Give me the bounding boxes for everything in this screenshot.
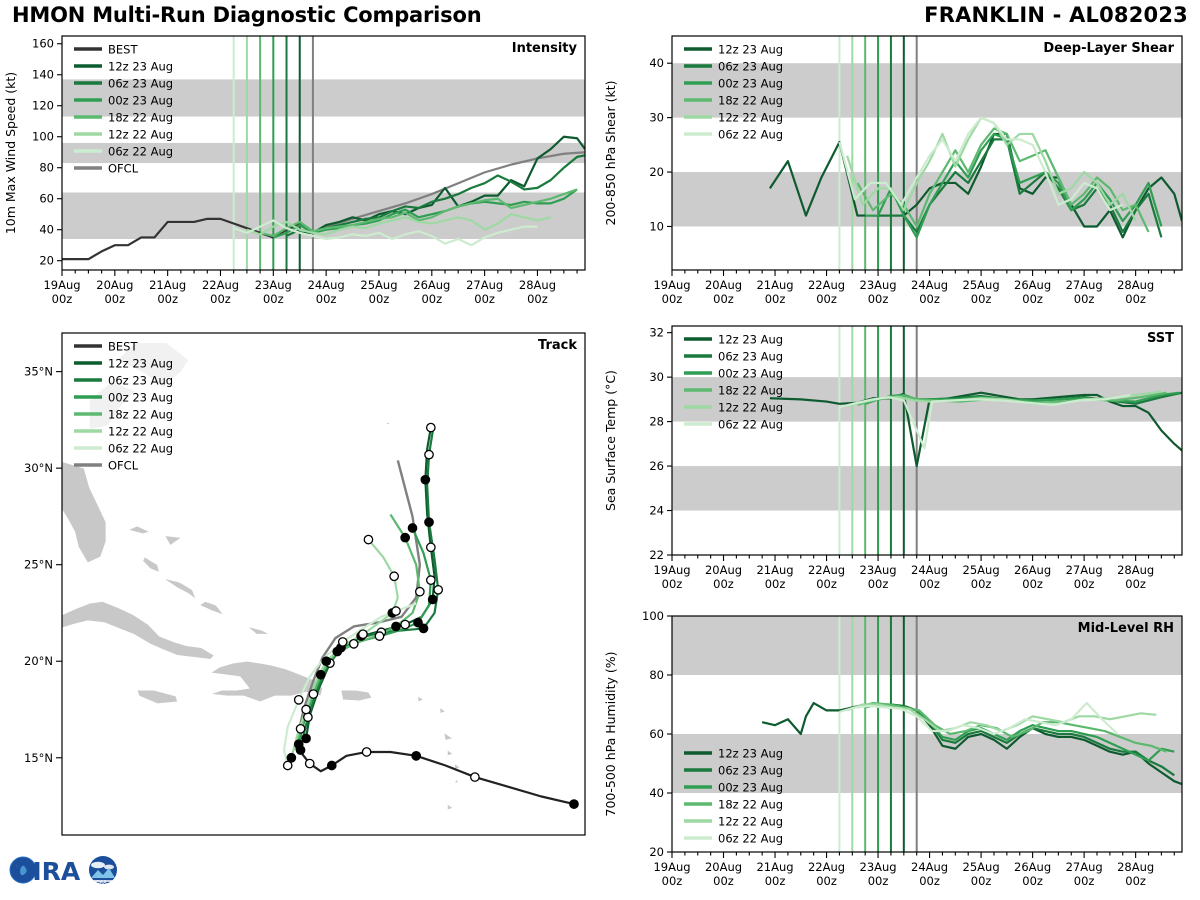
x-tick-sublabel: 00z: [919, 577, 940, 591]
track-marker: [401, 620, 409, 628]
track-marker: [427, 543, 435, 551]
x-tick-sublabel: 00z: [52, 292, 73, 306]
legend-label: 06z 22 Aug: [718, 418, 783, 432]
x-tick-label: 26Aug: [1014, 563, 1051, 577]
panel-shear: 1020304019Aug00z20Aug00z21Aug00z22Aug00z…: [600, 28, 1200, 318]
legend-label: 18z 22 Aug: [718, 384, 783, 398]
track-marker: [414, 618, 422, 626]
legend-label: 12z 23 Aug: [108, 357, 173, 371]
x-tick-sublabel: 00z: [1074, 874, 1095, 888]
legend-label: OFCL: [108, 162, 139, 176]
track-marker: [302, 734, 310, 742]
x-tick-sublabel: 00z: [1074, 577, 1095, 591]
legend-label: 00z 23 Aug: [718, 781, 783, 795]
x-tick-sublabel: 00z: [421, 292, 442, 306]
x-tick-sublabel: 00z: [919, 874, 940, 888]
track-marker: [570, 800, 578, 808]
x-tick-label: 23Aug: [255, 278, 292, 292]
x-tick-label: 19Aug: [653, 563, 690, 577]
x-tick-sublabel: 00z: [971, 874, 992, 888]
page-title-left: HMON Multi-Run Diagnostic Comparison: [12, 3, 481, 27]
x-tick-label: 20Aug: [705, 860, 742, 874]
lat-tick-label: 15°N: [24, 751, 53, 765]
y-tick-label: 80: [649, 668, 664, 682]
legend-label: BEST: [108, 340, 138, 354]
x-tick-sublabel: 00z: [971, 577, 992, 591]
x-tick-label: 22Aug: [808, 563, 845, 577]
track-marker: [392, 622, 400, 630]
x-tick-sublabel: 00z: [1125, 577, 1146, 591]
track-marker: [392, 607, 400, 615]
x-tick-sublabel: 00z: [713, 577, 734, 591]
track-marker: [295, 696, 303, 704]
x-tick-sublabel: 00z: [765, 577, 786, 591]
x-tick-label: 21Aug: [756, 278, 793, 292]
x-tick-label: 21Aug: [149, 278, 186, 292]
legend-label: 18z 22 Aug: [718, 798, 783, 812]
x-tick-label: 24Aug: [911, 278, 948, 292]
x-tick-sublabel: 00z: [210, 292, 231, 306]
x-tick-sublabel: 00z: [816, 874, 837, 888]
track-marker: [427, 576, 435, 584]
x-tick-label: 27Aug: [1066, 860, 1103, 874]
track-marker: [401, 533, 409, 541]
track-marker: [296, 725, 304, 733]
y-tick-label: 20: [649, 165, 664, 179]
x-tick-sublabel: 00z: [474, 292, 495, 306]
x-tick-sublabel: 00z: [1125, 874, 1146, 888]
x-tick-label: 20Aug: [705, 563, 742, 577]
x-tick-label: 23Aug: [860, 860, 897, 874]
x-tick-sublabel: 00z: [868, 874, 889, 888]
y-tick-label: 140: [32, 68, 54, 82]
legend-label: 12z 22 Aug: [108, 128, 173, 142]
legend-label: 12z 23 Aug: [718, 333, 783, 347]
track-marker: [333, 647, 341, 655]
x-tick-sublabel: 00z: [868, 577, 889, 591]
legend-label: 06z 23 Aug: [718, 60, 783, 74]
track-marker: [364, 535, 372, 543]
x-tick-label: 28Aug: [1117, 278, 1154, 292]
legend-label: 06z 23 Aug: [718, 764, 783, 778]
y-tick-label: 100: [32, 130, 54, 144]
y-tick-label: 60: [649, 727, 664, 741]
y-axis-title: Sea Surface Temp (°C): [603, 370, 618, 511]
legend-label: 00z 23 Aug: [718, 77, 783, 91]
track-marker: [416, 588, 424, 596]
x-tick-label: 23Aug: [860, 563, 897, 577]
x-tick-label: 28Aug: [519, 278, 556, 292]
x-tick-sublabel: 00z: [662, 874, 683, 888]
x-tick-label: 20Aug: [705, 278, 742, 292]
y-tick-label: 40: [649, 56, 664, 70]
lat-tick-label: 35°N: [24, 365, 53, 379]
legend-label: 12z 23 Aug: [718, 43, 783, 57]
x-tick-label: 22Aug: [808, 278, 845, 292]
lat-tick-label: 25°N: [24, 558, 53, 572]
y-tick-label: 22: [649, 548, 664, 562]
x-tick-label: 26Aug: [1014, 860, 1051, 874]
x-tick-sublabel: 00z: [1022, 577, 1043, 591]
intensity-band: [672, 466, 1182, 510]
x-tick-label: 21Aug: [756, 860, 793, 874]
x-tick-sublabel: 00z: [157, 292, 178, 306]
x-tick-label: 25Aug: [963, 278, 1000, 292]
x-tick-sublabel: 00z: [868, 292, 889, 306]
y-axis-title: 700-500 hPa Humidity (%): [603, 651, 618, 816]
x-tick-label: 26Aug: [1014, 278, 1051, 292]
y-axis-title: 10m Max Wind Speed (kt): [3, 72, 18, 234]
legend-label: 12z 22 Aug: [718, 111, 783, 125]
x-tick-sublabel: 00z: [1125, 292, 1146, 306]
y-tick-label: 160: [32, 37, 54, 51]
y-tick-label: 80: [39, 161, 54, 175]
y-tick-label: 24: [649, 504, 664, 518]
x-tick-label: 24Aug: [911, 860, 948, 874]
lat-tick-label: 30°N: [24, 461, 53, 475]
legend-label: 06z 22 Aug: [718, 128, 783, 142]
x-tick-sublabel: 00z: [713, 292, 734, 306]
x-tick-sublabel: 00z: [369, 292, 390, 306]
cira-logo: CIRA NOAA: [6, 848, 122, 892]
y-tick-label: 20: [39, 254, 54, 268]
legend-label: 12z 22 Aug: [718, 815, 783, 829]
x-tick-label: 28Aug: [1117, 860, 1154, 874]
track-marker: [412, 752, 420, 760]
lat-tick-label: 20°N: [24, 654, 53, 668]
x-tick-label: 24Aug: [308, 278, 345, 292]
page-title-right: FRANKLIN - AL082023: [924, 3, 1188, 27]
track-marker: [350, 640, 358, 648]
track-marker: [425, 450, 433, 458]
legend-label: 18z 22 Aug: [108, 111, 173, 125]
legend-label: 12z 23 Aug: [108, 60, 173, 74]
track-marker: [328, 761, 336, 769]
y-tick-label: 100: [642, 609, 664, 623]
x-tick-label: 21Aug: [756, 563, 793, 577]
legend-label: 18z 22 Aug: [718, 94, 783, 108]
x-tick-label: 26Aug: [413, 278, 450, 292]
y-tick-label: 32: [649, 326, 664, 340]
landmass: [438, 839, 466, 853]
x-tick-label: 27Aug: [1066, 278, 1103, 292]
y-tick-label: 10: [649, 219, 664, 233]
x-tick-sublabel: 00z: [971, 292, 992, 306]
x-tick-label: 19Aug: [653, 278, 690, 292]
x-tick-sublabel: 00z: [662, 577, 683, 591]
x-tick-sublabel: 00z: [765, 874, 786, 888]
track-marker: [362, 748, 370, 756]
legend-label: OFCL: [108, 459, 139, 473]
y-tick-label: 60: [39, 192, 54, 206]
x-tick-label: 27Aug: [1066, 563, 1103, 577]
x-tick-sublabel: 00z: [527, 292, 548, 306]
landmass: [341, 690, 372, 701]
legend-label: 18z 22 Aug: [108, 408, 173, 422]
x-tick-label: 23Aug: [860, 278, 897, 292]
track-marker: [359, 630, 367, 638]
track-marker: [306, 759, 314, 767]
panel-rh: 2040608010019Aug00z20Aug00z21Aug00z22Aug…: [600, 608, 1200, 900]
legend-label: 06z 22 Aug: [108, 145, 173, 159]
track-marker: [284, 761, 292, 769]
intensity-band: [62, 193, 585, 239]
x-tick-sublabel: 00z: [816, 577, 837, 591]
track-marker: [317, 671, 325, 679]
legend-label: 00z 23 Aug: [108, 391, 173, 405]
x-tick-label: 28Aug: [1117, 563, 1154, 577]
legend-label: 12z 22 Aug: [108, 425, 173, 439]
x-tick-label: 24Aug: [911, 563, 948, 577]
panel-title: Deep-Layer Shear: [1043, 41, 1174, 56]
track-marker: [434, 586, 442, 594]
landmass: [392, 835, 539, 854]
x-tick-sublabel: 00z: [816, 292, 837, 306]
track-marker: [302, 705, 310, 713]
panel-title: SST: [1147, 331, 1174, 346]
x-tick-sublabel: 00z: [1022, 874, 1043, 888]
y-tick-label: 30: [649, 111, 664, 125]
x-tick-label: 20Aug: [96, 278, 133, 292]
x-tick-sublabel: 00z: [316, 292, 337, 306]
x-tick-label: 25Aug: [360, 278, 397, 292]
track-marker: [390, 572, 398, 580]
y-tick-label: 28: [649, 415, 664, 429]
svg-text:CIRA: CIRA: [14, 857, 81, 886]
y-tick-label: 40: [39, 223, 54, 237]
x-tick-label: 27Aug: [466, 278, 503, 292]
x-tick-label: 25Aug: [963, 860, 1000, 874]
track-marker: [428, 595, 436, 603]
panel-title: Intensity: [512, 41, 578, 56]
legend-label: 06z 23 Aug: [718, 350, 783, 364]
x-tick-sublabel: 00z: [662, 292, 683, 306]
track-marker: [375, 632, 383, 640]
legend-label: 06z 22 Aug: [108, 442, 173, 456]
x-tick-sublabel: 00z: [713, 874, 734, 888]
y-axis-title: 200-850 hPa Shear (kt): [603, 81, 618, 226]
x-tick-label: 19Aug: [43, 278, 80, 292]
x-tick-label: 25Aug: [963, 563, 1000, 577]
track-marker: [408, 524, 416, 532]
x-tick-label: 19Aug: [653, 860, 690, 874]
legend-label: BEST: [108, 43, 138, 57]
track-marker: [339, 638, 347, 646]
track-marker: [427, 423, 435, 431]
legend-label: 00z 23 Aug: [718, 367, 783, 381]
legend-label: 06z 23 Aug: [108, 77, 173, 91]
x-tick-label: 22Aug: [808, 860, 845, 874]
x-tick-sublabel: 00z: [1074, 292, 1095, 306]
panel-title: Mid-Level RH: [1078, 621, 1174, 636]
svg-text:NOAA: NOAA: [92, 880, 107, 886]
y-tick-label: 26: [649, 459, 664, 473]
track-marker: [471, 773, 479, 781]
y-tick-label: 120: [32, 99, 54, 113]
y-tick-label: 20: [649, 845, 664, 859]
x-tick-label: 22Aug: [202, 278, 239, 292]
x-tick-sublabel: 00z: [919, 292, 940, 306]
x-tick-sublabel: 00z: [765, 292, 786, 306]
legend-label: 06z 23 Aug: [108, 374, 173, 388]
panel-intensity: 2040608010012014016019Aug00z20Aug00z21Au…: [0, 28, 600, 318]
legend-label: 00z 23 Aug: [108, 94, 173, 108]
track-marker: [322, 657, 330, 665]
track-marker: [309, 690, 317, 698]
track-marker: [421, 476, 429, 484]
x-tick-sublabel: 00z: [104, 292, 125, 306]
x-tick-sublabel: 00z: [1022, 292, 1043, 306]
legend-label: 06z 22 Aug: [718, 832, 783, 846]
y-tick-label: 40: [649, 786, 664, 800]
legend-label: 12z 23 Aug: [718, 747, 783, 761]
panel-title: Track: [538, 338, 577, 353]
x-tick-sublabel: 00z: [263, 292, 284, 306]
legend-label: 12z 22 Aug: [718, 401, 783, 415]
panel-track: 35°N30°N25°N20°N15°NTrackBEST12z 23 Aug0…: [0, 325, 600, 870]
track-marker: [425, 518, 433, 526]
track-marker: [304, 713, 312, 721]
y-tick-label: 30: [649, 370, 664, 384]
panel-sst: 22242628303219Aug00z20Aug00z21Aug00z22Au…: [600, 318, 1200, 603]
track-marker: [295, 740, 303, 748]
